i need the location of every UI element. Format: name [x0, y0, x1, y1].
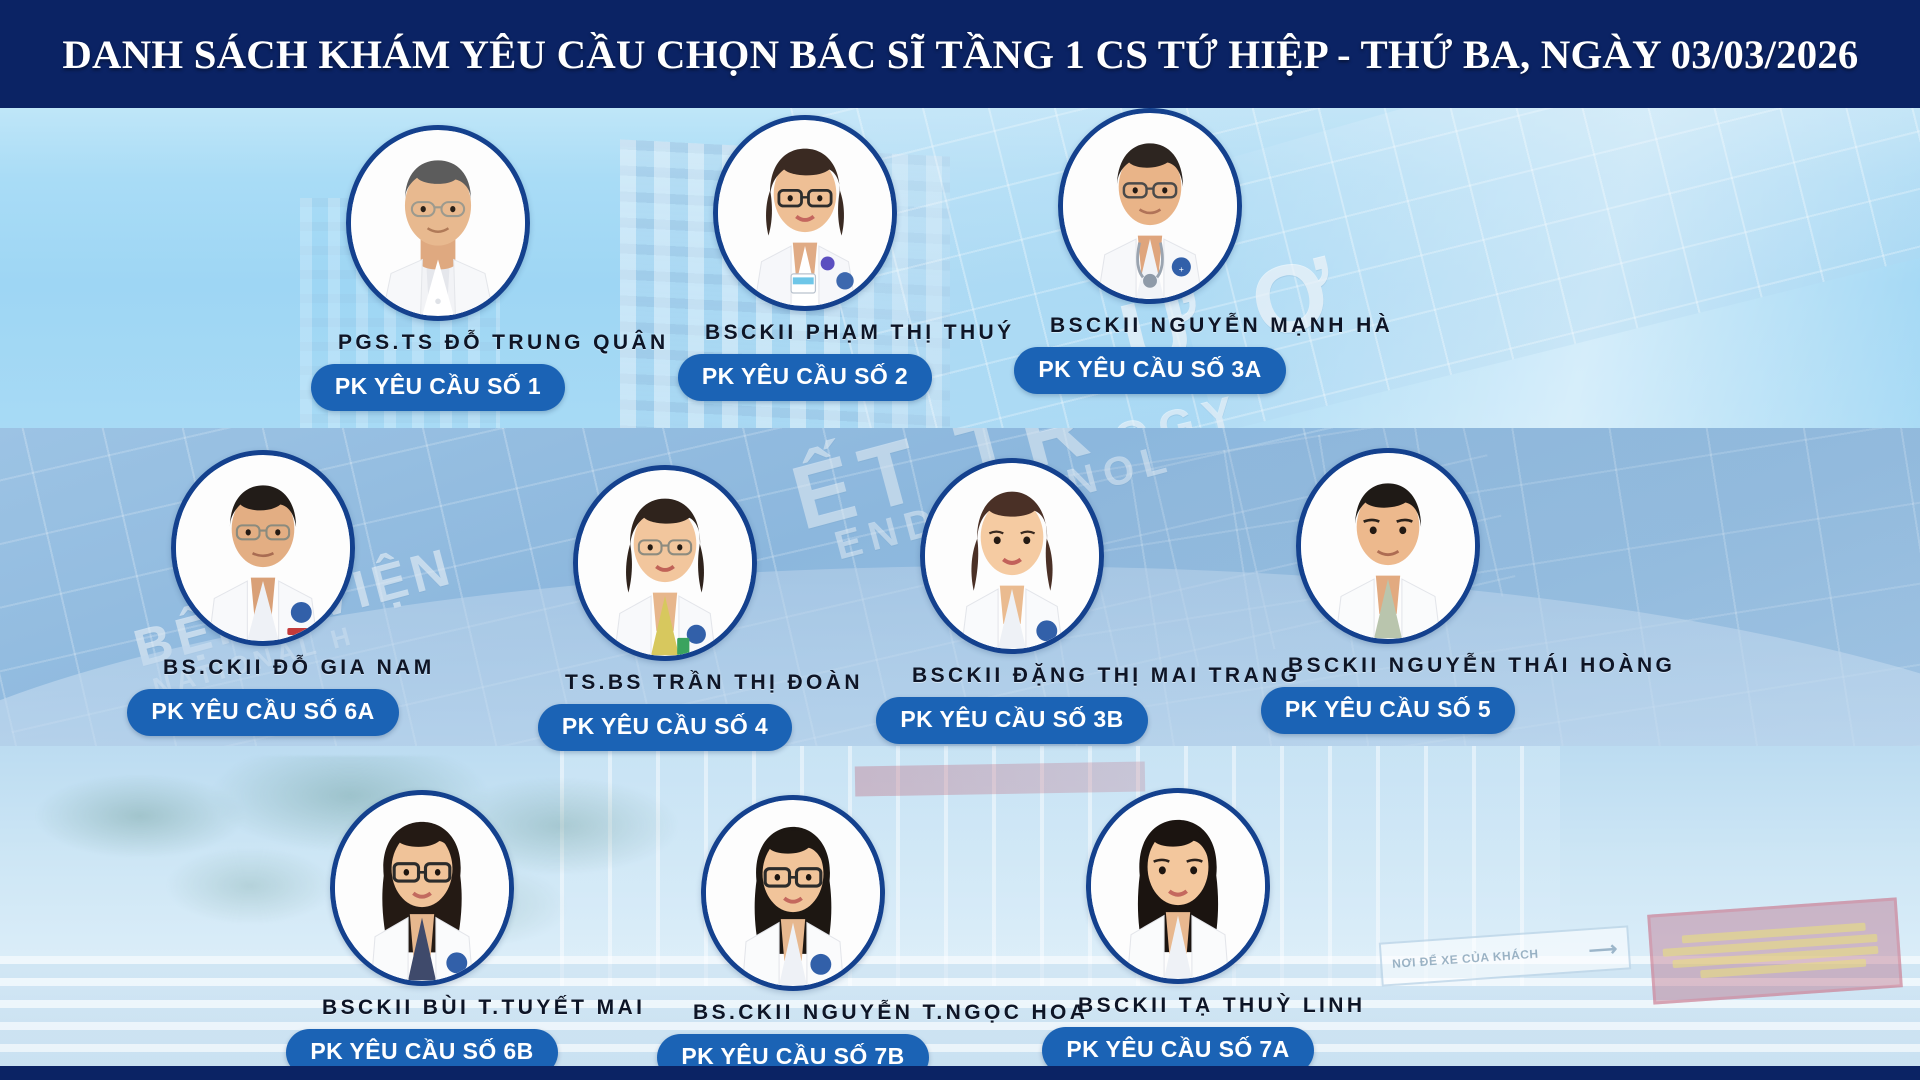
room-badge[interactable]: PK YÊU CẦU SỐ 4 [538, 704, 792, 751]
doctor-card[interactable]: BSCKII TẠ THUỲ LINH PK YÊU CẦU SỐ 7A [1078, 788, 1278, 1074]
portrait-male-senior-glasses [351, 130, 525, 316]
avatar [920, 458, 1104, 654]
portrait-female-short-hair [925, 463, 1099, 649]
parking-sign-text: NƠI ĐỂ XE CỦA KHÁCH [1392, 947, 1539, 971]
avatar [330, 790, 514, 986]
portrait-female-long-hair-glasses [335, 795, 509, 981]
avatar [1086, 788, 1270, 984]
avatar [713, 115, 897, 311]
notice-sign [1647, 897, 1903, 1004]
doctor-name: BSCKII NGUYỄN MẠNH HÀ [1050, 314, 1250, 338]
doctor-card[interactable]: TS.BS TRẦN THỊ ĐOÀN PK YÊU CẦU SỐ 4 [565, 465, 765, 751]
svg-text:+: + [1179, 264, 1184, 274]
portrait-female-glasses-bangs [706, 800, 880, 986]
avatar [1296, 448, 1480, 644]
portrait-female-long-hair [1091, 793, 1265, 979]
doctor-name: BSCKII NGUYỄN THÁI HOÀNG [1288, 654, 1488, 678]
portrait-male-glasses-stethoscope: + [1063, 113, 1237, 299]
doctor-name: BS.CKII ĐỖ GIA NAM [163, 656, 363, 680]
poster-header: DANH SÁCH KHÁM YÊU CẦU CHỌN BÁC SĨ TẦNG … [0, 0, 1920, 108]
room-badge[interactable]: PK YÊU CẦU SỐ 3B [876, 697, 1147, 744]
footer-bar [0, 1066, 1920, 1080]
avatar [701, 795, 885, 991]
doctor-name: BSCKII PHẠM THỊ THUÝ [705, 321, 905, 345]
doctor-name: BSCKII BÙI T.TUYẾT MAI [322, 996, 522, 1020]
doctor-name: BSCKII ĐẶNG THỊ MAI TRANG [912, 664, 1112, 688]
doctor-card[interactable]: PGS.TS ĐỖ TRUNG QUÂN PK YÊU CẦU SỐ 1 [338, 125, 538, 411]
doctor-name: TS.BS TRẦN THỊ ĐOÀN [565, 671, 765, 695]
avatar [171, 450, 355, 646]
room-badge[interactable]: PK YÊU CẦU SỐ 1 [311, 364, 565, 411]
doctor-card[interactable]: BS.CKII ĐỖ GIA NAM PK YÊU CẦU SỐ 6A [163, 450, 363, 736]
arrow-right-icon: ⟶ [1588, 936, 1619, 963]
portrait-male-glasses-young [176, 455, 350, 641]
doctor-name: BSCKII TẠ THUỲ LINH [1078, 994, 1278, 1018]
room-badge[interactable]: PK YÊU CẦU SỐ 3A [1014, 347, 1285, 394]
doctor-card[interactable]: BSCKII PHẠM THỊ THUÝ PK YÊU CẦU SỐ 2 [705, 115, 905, 401]
room-badge[interactable]: PK YÊU CẦU SỐ 2 [678, 354, 932, 401]
doctor-card[interactable]: + BSCKII NGUYỄN MẠNH HÀ PK YÊU CẦU SỐ 3A [1050, 108, 1250, 394]
doctor-card[interactable]: BSCKII BÙI T.TUYẾT MAI PK YÊU CẦU SỐ 6B [322, 790, 522, 1076]
doctor-name: BS.CKII NGUYỄN T.NGỌC HOA [693, 1001, 893, 1025]
portrait-female-bob-glasses [718, 120, 892, 306]
room-badge[interactable]: PK YÊU CẦU SỐ 5 [1261, 687, 1515, 734]
room-badge[interactable]: PK YÊU CẦU SỐ 6A [127, 689, 398, 736]
background-band-1: Ư Ơ OLOGY [0, 108, 1920, 428]
avatar [346, 125, 530, 321]
page-title: DANH SÁCH KHÁM YÊU CẦU CHỌN BÁC SĨ TẦNG … [62, 31, 1858, 78]
avatar: + [1058, 108, 1242, 304]
portrait-male-short-hair [1301, 453, 1475, 639]
poster-root: DANH SÁCH KHÁM YÊU CẦU CHỌN BÁC SĨ TẦNG … [0, 0, 1920, 1080]
portrait-female-bob-glasses-badge [578, 470, 752, 656]
doctor-card[interactable]: BSCKII ĐẶNG THỊ MAI TRANG PK YÊU CẦU SỐ … [912, 458, 1112, 744]
doctor-name: PGS.TS ĐỖ TRUNG QUÂN [338, 331, 538, 355]
avatar [573, 465, 757, 661]
doctor-card[interactable]: BSCKII NGUYỄN THÁI HOÀNG PK YÊU CẦU SỐ 5 [1288, 448, 1488, 734]
doctor-card[interactable]: BS.CKII NGUYỄN T.NGỌC HOA PK YÊU CẦU SỐ … [693, 795, 893, 1080]
